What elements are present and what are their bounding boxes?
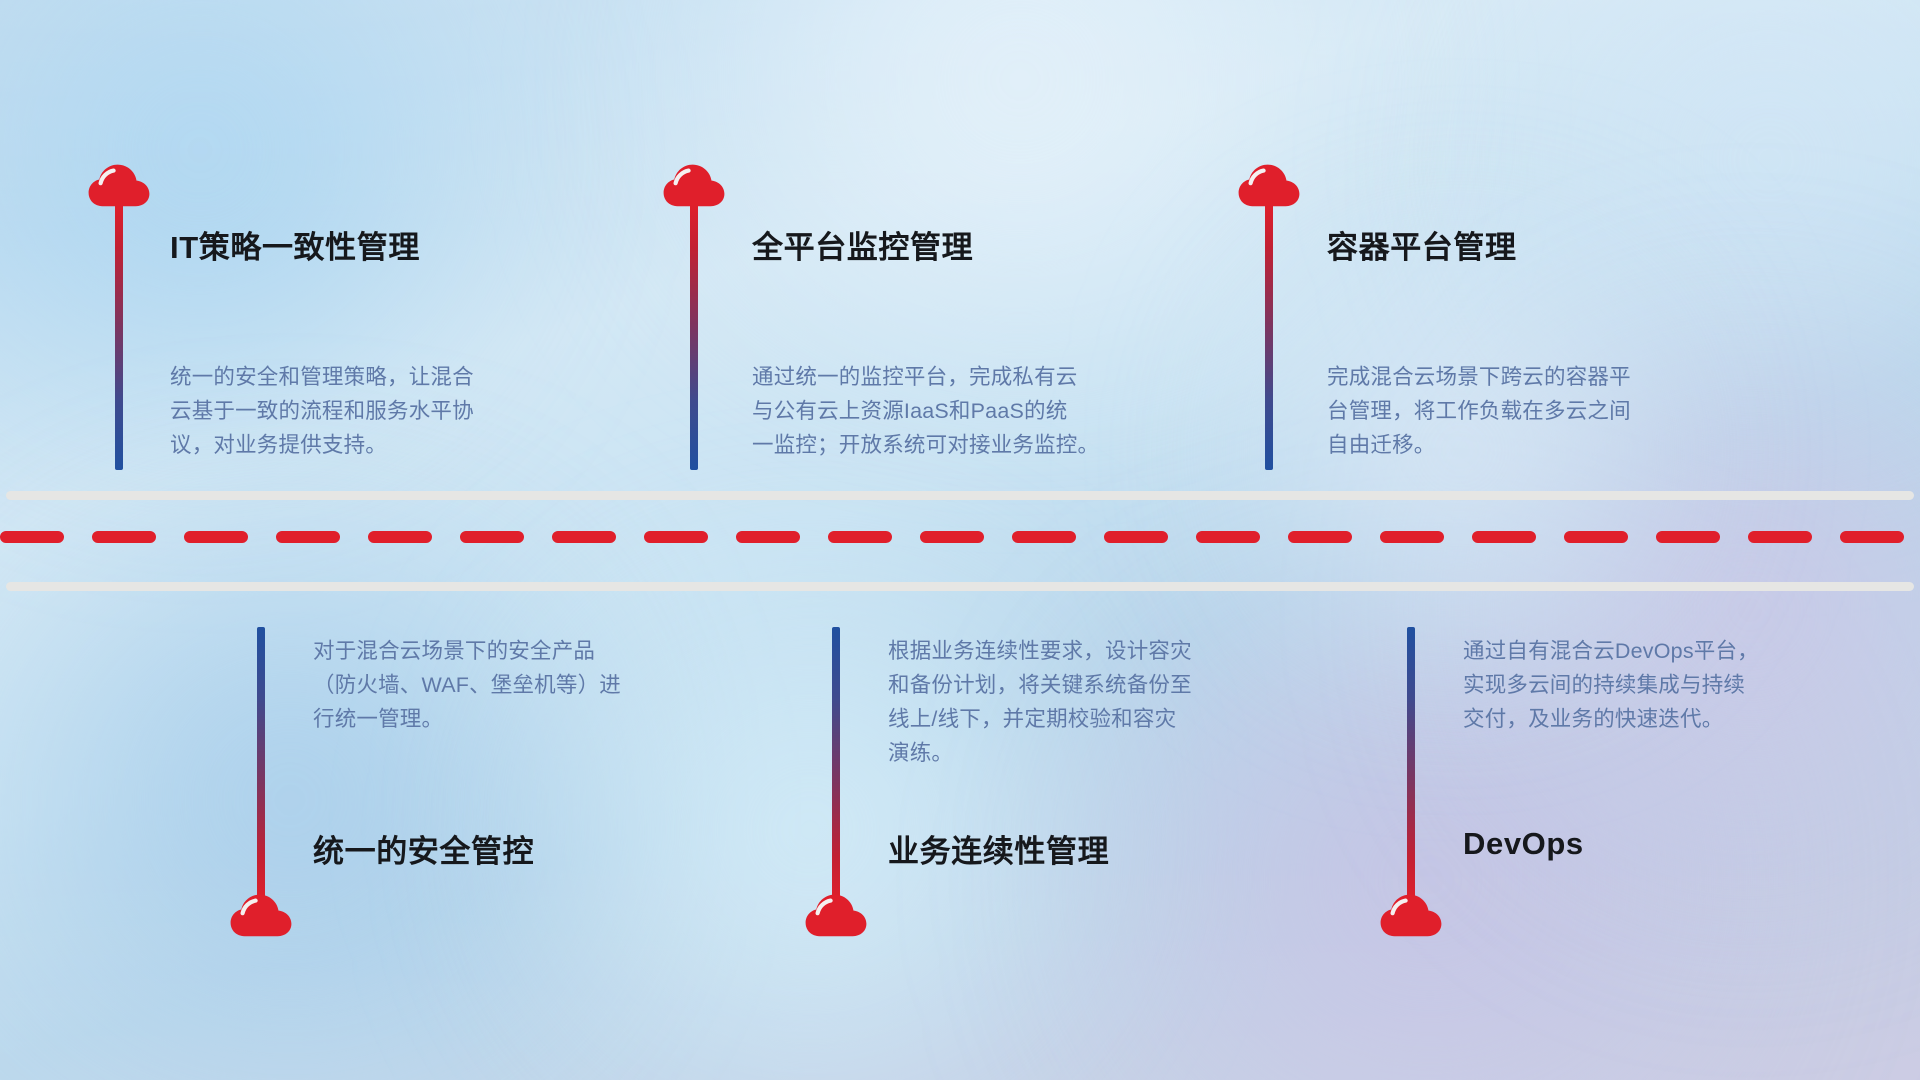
timeline-stem [690,204,698,470]
cloud-icon [230,893,292,937]
timeline-stem [832,627,840,902]
timeline-stem [115,204,123,470]
description-line: 台管理，将工作负载在多云之间 [1327,394,1631,428]
description-line: 根据业务连续性要求，设计容灾 [888,634,1192,668]
description-line: 通过自有混合云DevOps平台， [1463,634,1759,668]
timeline-stem [1265,204,1273,470]
cloud-icon [1238,163,1300,207]
item-description: 对于混合云场景下的安全产品 （防火墙、WAF、堡垒机等）进 行统一管理。 [313,634,621,736]
description-line: 统一的安全和管理策略，让混合 [170,360,474,394]
cloud-icon [805,893,867,937]
description-line: 交付，及业务的快速迭代。 [1463,702,1759,736]
description-line: 一监控；开放系统可对接业务监控。 [752,428,1099,462]
cloud-icon [88,163,150,207]
item-description: 通过自有混合云DevOps平台， 实现多云间的持续集成与持续 交付，及业务的快速… [1463,634,1759,736]
description-line: 线上/线下，并定期校验和容灾 [888,702,1192,736]
item-title: 全平台监控管理 [752,222,973,267]
item-description: 根据业务连续性要求，设计容灾 和备份计划，将关键系统备份至 线上/线下，并定期校… [888,634,1192,770]
description-line: （防火墙、WAF、堡垒机等）进 [313,668,621,702]
description-line: 与公有云上资源IaaS和PaaS的统 [752,394,1099,428]
item-title: 统一的安全管控 [313,826,534,871]
description-line: 对于混合云场景下的安全产品 [313,634,621,668]
description-line: 议，对业务提供支持。 [170,428,474,462]
item-description: 完成混合云场景下跨云的容器平 台管理，将工作负载在多云之间 自由迁移。 [1327,360,1631,462]
item-description: 通过统一的监控平台，完成私有云 与公有云上资源IaaS和PaaS的统 一监控；开… [752,360,1099,462]
divider-dashed-line [0,530,1920,544]
cloud-icon [663,163,725,207]
description-line: 实现多云间的持续集成与持续 [1463,668,1759,702]
divider-rail-top [6,491,1914,500]
description-line: 和备份计划，将关键系统备份至 [888,668,1192,702]
divider-rail-bottom [6,582,1914,591]
description-line: 完成混合云场景下跨云的容器平 [1327,360,1631,394]
timeline-stem [257,627,265,902]
description-line: 通过统一的监控平台，完成私有云 [752,360,1099,394]
cloud-icon [1380,893,1442,937]
item-description: 统一的安全和管理策略，让混合 云基于一致的流程和服务水平协 议，对业务提供支持。 [170,360,474,462]
item-title: DevOps [1463,826,1584,862]
description-line: 演练。 [888,736,1192,770]
timeline-stem [1407,627,1415,902]
item-title: 业务连续性管理 [888,826,1109,871]
description-line: 自由迁移。 [1327,428,1631,462]
item-title: IT策略一致性管理 [170,222,420,267]
description-line: 行统一管理。 [313,702,621,736]
infographic: IT策略一致性管理 统一的安全和管理策略，让混合 云基于一致的流程和服务水平协 … [0,0,1920,1080]
description-line: 云基于一致的流程和服务水平协 [170,394,474,428]
item-title: 容器平台管理 [1327,222,1517,267]
